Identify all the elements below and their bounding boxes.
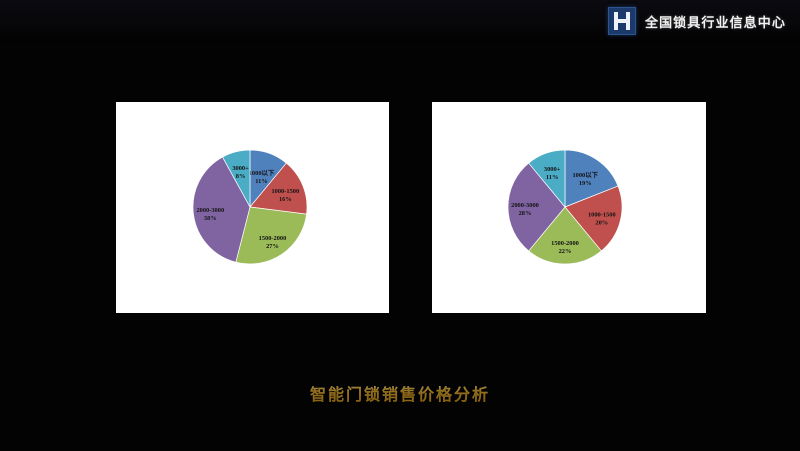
pie-slice-label-value: 11% xyxy=(546,174,558,181)
pie-slice-label-value: 28% xyxy=(519,210,532,217)
pie-slice-label-name: 1500-2000 xyxy=(551,240,579,247)
left-pie-chart: 1000以下11%1000-150016%1500-200027%2000-30… xyxy=(116,102,389,313)
right-pie-svg: 1000以下19%1000-150020%1500-200022%2000-30… xyxy=(432,102,706,313)
pie-slice-label-name: 3000+ xyxy=(544,166,561,173)
pie-slice-label-name: 1000以下 xyxy=(572,171,598,179)
organization-name: 全国锁具行业信息中心 xyxy=(645,12,786,31)
left-pie-svg: 1000以下11%1000-150016%1500-200027%2000-30… xyxy=(116,102,389,313)
right-chart-panel: 1000以下19%1000-150020%1500-200022%2000-30… xyxy=(432,102,706,313)
pie-slice-label-name: 1000以下 xyxy=(249,169,275,177)
slide-caption: 智能门锁销售价格分析 xyxy=(0,381,800,405)
pie-slice-label-value: 16% xyxy=(279,196,292,203)
pie-slice-label-value: 27% xyxy=(266,243,279,250)
page-header: 全国锁具行业信息中心 xyxy=(0,0,800,42)
pie-slice-label-name: 1000-1500 xyxy=(588,211,616,218)
left-chart-panel: 1000以下11%1000-150016%1500-200027%2000-30… xyxy=(116,102,389,313)
logo-stroke-right xyxy=(626,12,630,30)
h-logo-icon xyxy=(608,7,636,35)
pie-slice-label-name: 2000-3000 xyxy=(196,207,224,214)
pie-slice-label-name: 1000-1500 xyxy=(271,188,299,195)
pie-slice-label-value: 11% xyxy=(255,178,267,185)
right-pie-chart: 1000以下19%1000-150020%1500-200022%2000-30… xyxy=(432,102,706,313)
pie-slice-label-value: 22% xyxy=(559,248,572,255)
pie-slice-label-value: 20% xyxy=(595,219,608,226)
pie-slice-label-name: 2000-3000 xyxy=(511,202,539,209)
header-branding: 全国锁具行业信息中心 xyxy=(608,7,786,35)
pie-slice-label-value: 38% xyxy=(204,215,217,222)
pie-slice-label-name: 1500-2000 xyxy=(259,235,287,242)
pie-slice-label-name: 3000+ xyxy=(232,165,249,172)
pie-slice-label-value: 19% xyxy=(579,180,592,187)
pie-slice-label-value: 8% xyxy=(236,173,246,180)
